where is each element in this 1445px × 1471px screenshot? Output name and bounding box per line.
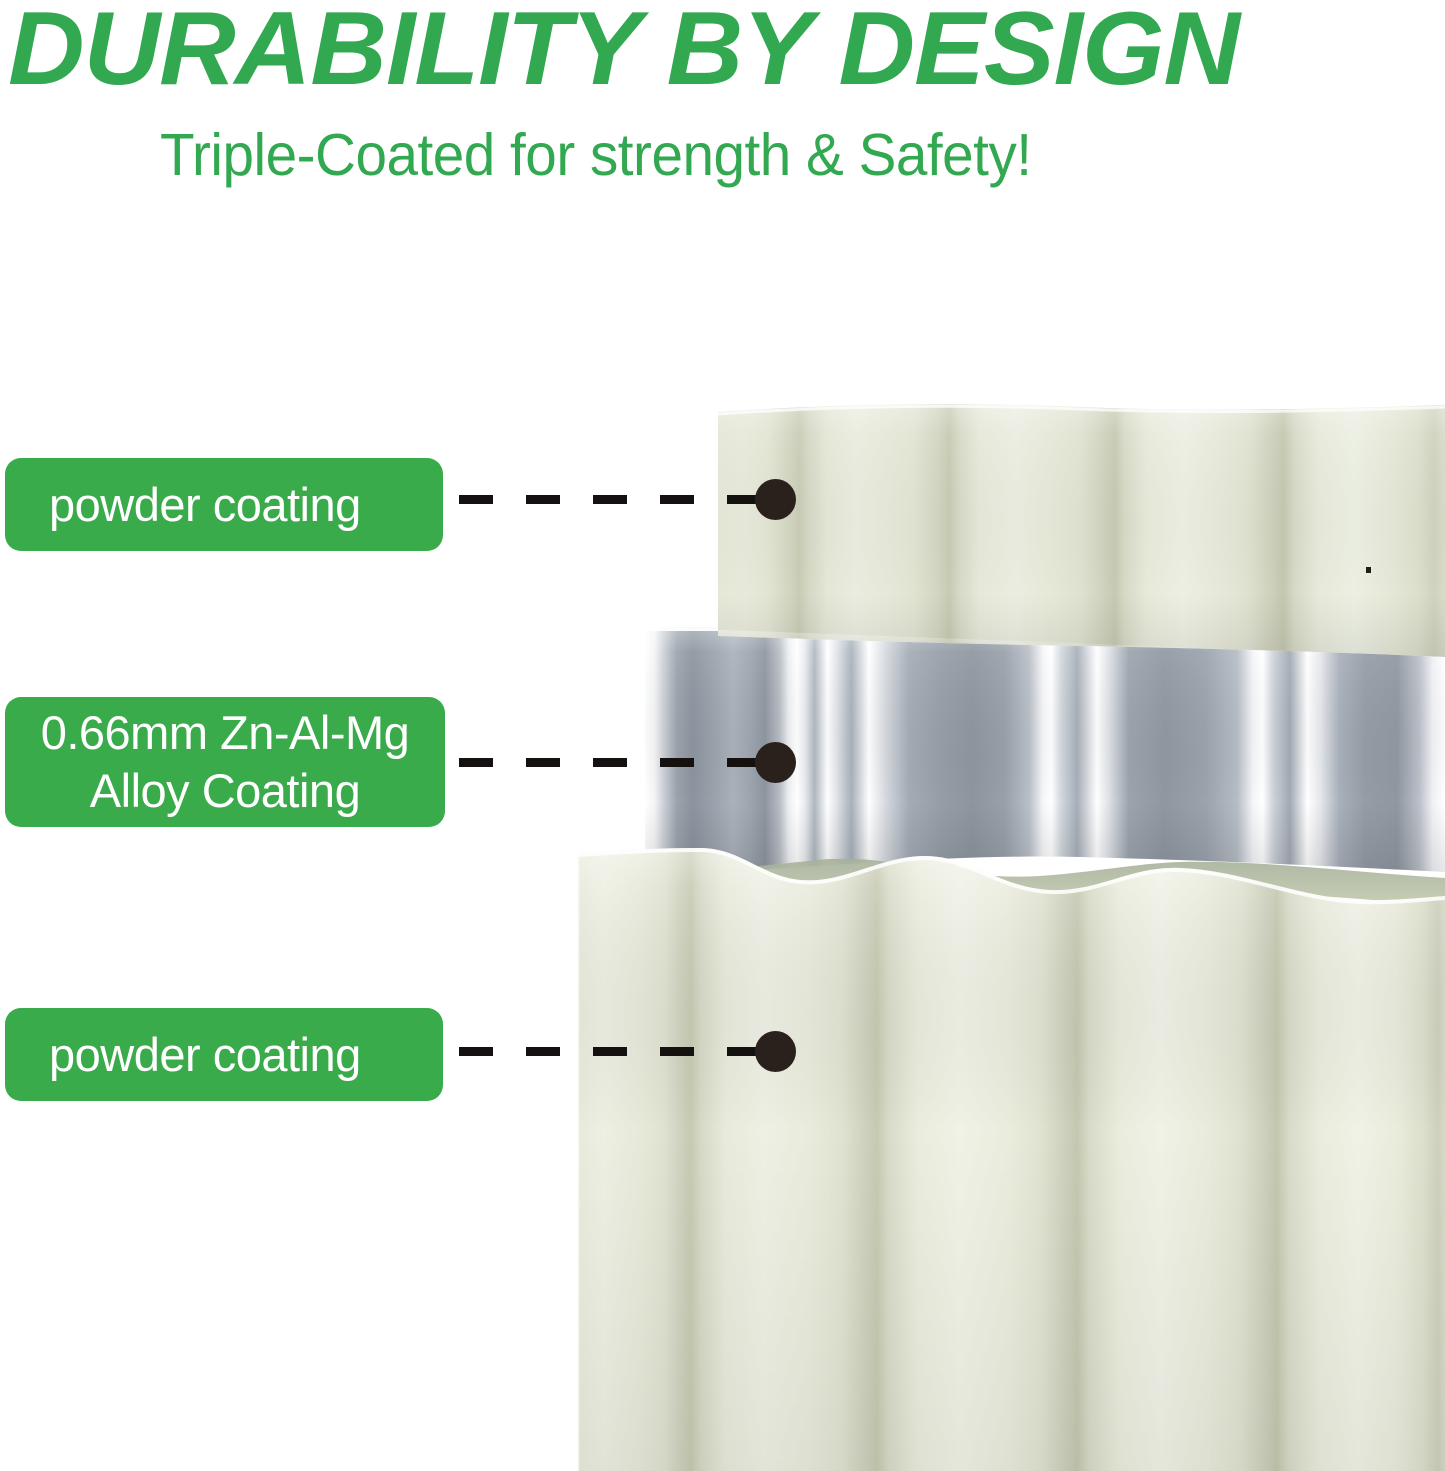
dashed-line (459, 1047, 759, 1056)
page-subtitle: Triple-Coated for strength & Safety! (160, 120, 1032, 190)
callout-dot (755, 742, 796, 783)
page-title: DURABILITY BY DESIGN (8, 0, 1436, 102)
leader-line-powder-coating-top (459, 495, 759, 504)
callout-label: powder coating (5, 476, 443, 534)
callout-dot (755, 479, 796, 520)
callout-badge-alloy-coating: 0.66mm Zn-Al-Mg Alloy Coating (5, 697, 445, 827)
infographic-page: DURABILITY BY DESIGN Triple-Coated for s… (0, 0, 1445, 1471)
top-powder-coat-layer (718, 404, 1445, 657)
callout-badge-powder-coating-bottom: powder coating (5, 1008, 443, 1101)
bottom-powder-coat-layer (578, 848, 1445, 1471)
dashed-line (459, 758, 759, 767)
leader-line-powder-coating-bottom (459, 1047, 759, 1056)
dashed-line (459, 495, 759, 504)
leader-line-alloy-coating (459, 758, 759, 767)
surface-speck (1366, 567, 1371, 573)
callout-label-line-2: Alloy Coating (90, 764, 360, 817)
callout-label: 0.66mm Zn-Al-Mg Alloy Coating (5, 704, 445, 820)
callout-dot (755, 1031, 796, 1072)
callout-label: powder coating (5, 1026, 443, 1084)
callout-badge-powder-coating-top: powder coating (5, 458, 443, 551)
inner-shadow-band (645, 859, 1445, 908)
callout-label-line-1: 0.66mm Zn-Al-Mg (41, 706, 410, 759)
